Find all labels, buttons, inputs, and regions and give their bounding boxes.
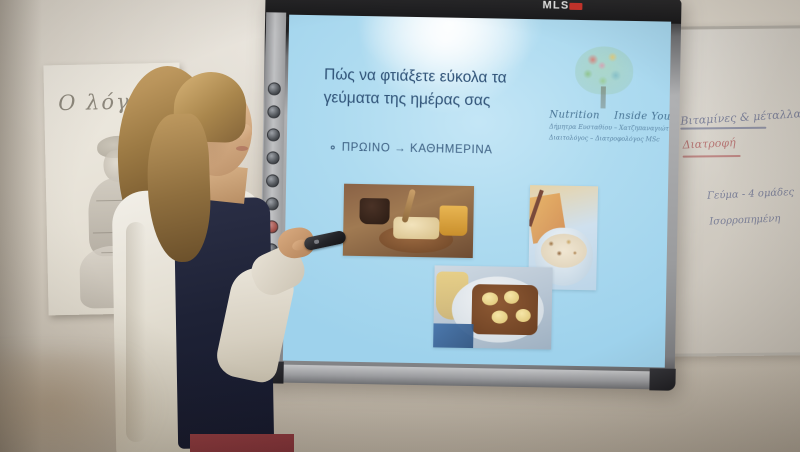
slide-title-line-2: γεύματα της ημέρας σας bbox=[323, 87, 558, 115]
slide-bullet-text: ΠΡΩΙΝΟ → ΚΑΘΗΜΕΡΙΝΑ bbox=[342, 142, 493, 157]
presenter-skirt bbox=[190, 434, 294, 452]
logo-name-right: Inside You bbox=[614, 111, 671, 123]
mls-brand-logo: MLS bbox=[542, 0, 569, 12]
projected-slide: Πώς να φτιάξετε εύκολα τα γεύματα της ημ… bbox=[283, 15, 671, 368]
foreground-blur bbox=[0, 352, 160, 452]
tree-trunk bbox=[601, 86, 606, 108]
photo-toast bbox=[393, 217, 439, 240]
logo-name-left: Nutrition bbox=[549, 109, 600, 121]
photo-coffee-cup bbox=[359, 198, 389, 225]
banana-toast-photo bbox=[433, 265, 552, 349]
photo-napkin bbox=[433, 323, 473, 348]
breakfast-honey-toast-photo bbox=[343, 184, 474, 258]
handwritten-note: Διατροφή bbox=[682, 136, 736, 151]
logo-subtitle-line-1: Δήμητρα Ευσταθίου – Χατζηπαναγιώτου bbox=[549, 122, 657, 133]
remote-button-icon[interactable] bbox=[314, 239, 320, 244]
right-whiteboard: Βιταμίνες & μέταλλα Διατροφή Γεύμα - 4 ο… bbox=[662, 25, 800, 357]
interactive-whiteboard[interactable]: MLS Πώς να φτιάξετε εύκολα τα γεύματα τη… bbox=[258, 0, 681, 390]
tree-logo-icon bbox=[575, 46, 634, 109]
photo-banana-slice bbox=[504, 291, 519, 304]
photo-banana-slice bbox=[492, 310, 508, 323]
mls-accent-mark bbox=[569, 3, 582, 10]
photo-honey-jar bbox=[439, 205, 468, 236]
photo-banana-slice bbox=[482, 292, 498, 305]
logo-brand-name: Nutrition Inside You bbox=[549, 109, 657, 122]
whiteboard-corner-cap-right bbox=[649, 368, 675, 390]
slide-bullet-item: ΠΡΩΙΝΟ → ΚΑΘΗΜΕΡΙΝΑ bbox=[331, 141, 493, 156]
slide-title: Πώς να φτιάξετε εύκολα τα γεύματα της ημ… bbox=[323, 63, 559, 114]
nutrition-logo: Nutrition Inside You Δήμητρα Ευσταθίου –… bbox=[549, 45, 659, 145]
bullet-dot-icon bbox=[331, 145, 335, 149]
presenter-lips bbox=[236, 146, 248, 151]
classroom-presentation-scene: Ο λόγος Βιταμίνες & μέταλλα Διατροφή Γεύ… bbox=[0, 0, 800, 452]
logo-subtitle-line-2: Διαιτολόγος – Διατροφολόγος MSc bbox=[549, 134, 657, 145]
